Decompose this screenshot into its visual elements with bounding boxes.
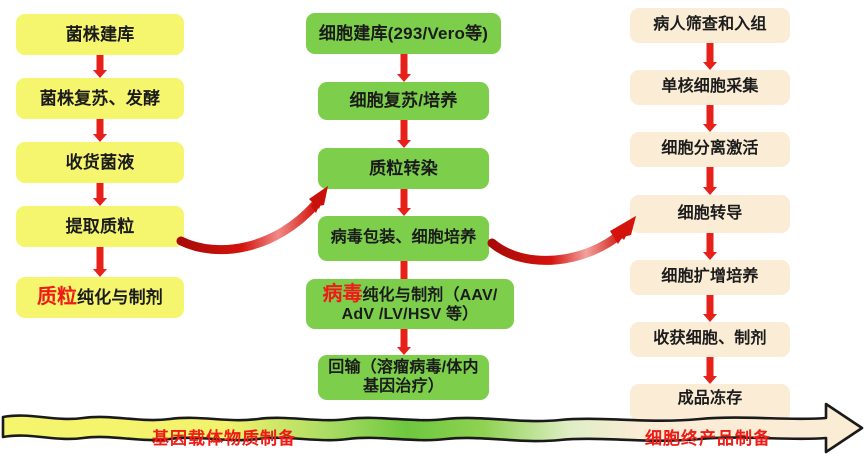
step-box-cell-harvest[interactable]: 收获细胞、制剂 [630, 322, 790, 357]
step-box-virus-packaging[interactable]: 病毒包装、细胞培养 [318, 216, 489, 261]
highlight-term: 病毒 [322, 283, 362, 305]
arrow-head [703, 124, 717, 132]
step-label: 病人筛查和入组 [653, 16, 766, 34]
connector-arrow-vertical [396, 329, 412, 355]
arrow-head [703, 314, 717, 322]
connector-arrow-vertical [702, 43, 718, 70]
step-box-harvest-broth[interactable]: 收货菌液 [16, 142, 184, 183]
arrow-shaft [401, 261, 408, 279]
step-box-virus-purification[interactable]: 病毒纯化与制剂（AAV/ AdV /LV/HSV 等） [306, 279, 514, 329]
arrow-shaft [707, 357, 714, 376]
step-label: 菌株建库 [66, 25, 135, 44]
step-label: 收获细胞、制剂 [653, 330, 766, 348]
arrow-shaft [707, 295, 714, 314]
arrow-shaft [97, 55, 104, 70]
banner-label-text: 基因载体物质制备 [152, 429, 296, 448]
arrow-shaft [401, 54, 408, 74]
arrow-head [93, 134, 107, 142]
connector-arrow-vertical [396, 189, 412, 216]
step-box-cell-bank[interactable]: 细胞建库(293/Vero等) [306, 13, 501, 54]
connector-arrow-vertical [702, 167, 718, 195]
step-label: 细胞建库(293/Vero等) [319, 24, 488, 43]
step-box-strain-revival[interactable]: 菌株复苏、发酵 [16, 78, 184, 119]
highlight-term: 质粒 [37, 286, 77, 308]
arrow-shaft [401, 120, 408, 140]
arrow-shaft [97, 119, 104, 134]
step-label: 纯化与制剂（AAV/ AdV /LV/HSV 等） [342, 287, 498, 323]
step-label: 纯化与制剂 [77, 288, 163, 307]
arrow-shaft [97, 247, 104, 269]
step-box-cell-isolation[interactable]: 细胞分离激活 [630, 132, 790, 167]
step-label: 细胞复苏/培养 [349, 91, 457, 110]
step-box-cell-expansion[interactable]: 细胞扩增培养 [630, 260, 790, 295]
step-label: 回输（溶瘤病毒/体内基因治疗） [322, 359, 485, 395]
step-label: 菌株复苏、发酵 [40, 89, 160, 108]
connector-arrow-vertical [396, 120, 412, 148]
arrow-shaft [707, 167, 714, 187]
step-label: 收货菌液 [66, 153, 135, 172]
arrow-head [93, 269, 107, 277]
step-label: 细胞扩增培养 [661, 268, 758, 286]
step-label: 细胞转导 [678, 205, 743, 223]
step-box-patient-screening[interactable]: 病人筛查和入组 [630, 8, 790, 43]
arrow-shaft [97, 183, 104, 198]
arrow-shaft [401, 329, 408, 347]
step-label: 病毒包装、细胞培养 [331, 229, 477, 247]
step-label-composite: 质粒纯化与制剂 [37, 286, 163, 309]
banner-label-gene-vector: 基因载体物质制备 [152, 424, 296, 449]
connector-arrow-vertical [92, 55, 108, 78]
arrow-head [93, 198, 107, 206]
flowchart-canvas: 菌株建库 菌株复苏、发酵 收货菌液 提取质粒 质粒纯化与制剂 细胞建库(293/… [0, 0, 865, 458]
curve-plasmid-to-transfection [181, 186, 328, 250]
step-label: 质粒转染 [369, 159, 438, 178]
step-box-strain-bank[interactable]: 菌株建库 [16, 14, 184, 55]
step-box-cell-revival[interactable]: 细胞复苏/培养 [318, 82, 489, 120]
step-box-plasmid-transfection[interactable]: 质粒转染 [318, 148, 489, 189]
step-label: 单核细胞采集 [661, 78, 758, 96]
banner-label-text: 细胞终产品制备 [645, 429, 771, 448]
connector-arrow-vertical [702, 357, 718, 384]
connector-arrow-vertical [92, 247, 108, 277]
arrow-head [703, 376, 717, 384]
arrow-head [397, 140, 411, 148]
arrow-head [397, 347, 411, 355]
step-label: 提取质粒 [66, 217, 135, 236]
connector-arrow-vertical [702, 295, 718, 322]
connector-arrow-vertical [92, 183, 108, 206]
step-label-composite: 病毒纯化与制剂（AAV/ AdV /LV/HSV 等） [310, 283, 510, 324]
connector-arrow-vertical [702, 233, 718, 260]
step-box-reinfusion[interactable]: 回输（溶瘤病毒/体内基因治疗） [318, 355, 489, 400]
arrow-shaft [707, 43, 714, 62]
curve-virus-to-transduction [492, 216, 636, 260]
connector-arrow-vertical [92, 119, 108, 142]
arrow-head [93, 70, 107, 78]
step-box-plasmid-extraction[interactable]: 提取质粒 [16, 206, 184, 247]
arrow-head [397, 74, 411, 82]
arrow-shaft [707, 233, 714, 252]
arrow-head [397, 208, 411, 216]
step-box-pbmc-collection[interactable]: 单核细胞采集 [630, 70, 790, 105]
connector-arrow-vertical [396, 54, 412, 82]
connector-arrow-vertical [702, 105, 718, 132]
arrow-shaft [707, 105, 714, 124]
arrow-shaft [401, 189, 408, 208]
step-box-plasmid-purification[interactable]: 质粒纯化与制剂 [16, 277, 184, 318]
banner-label-cell-product: 细胞终产品制备 [645, 424, 771, 449]
arrow-head [703, 252, 717, 260]
arrow-head [703, 187, 717, 195]
step-label: 细胞分离激活 [661, 140, 758, 158]
arrow-head [703, 62, 717, 70]
step-box-cell-transduction[interactable]: 细胞转导 [630, 195, 790, 233]
